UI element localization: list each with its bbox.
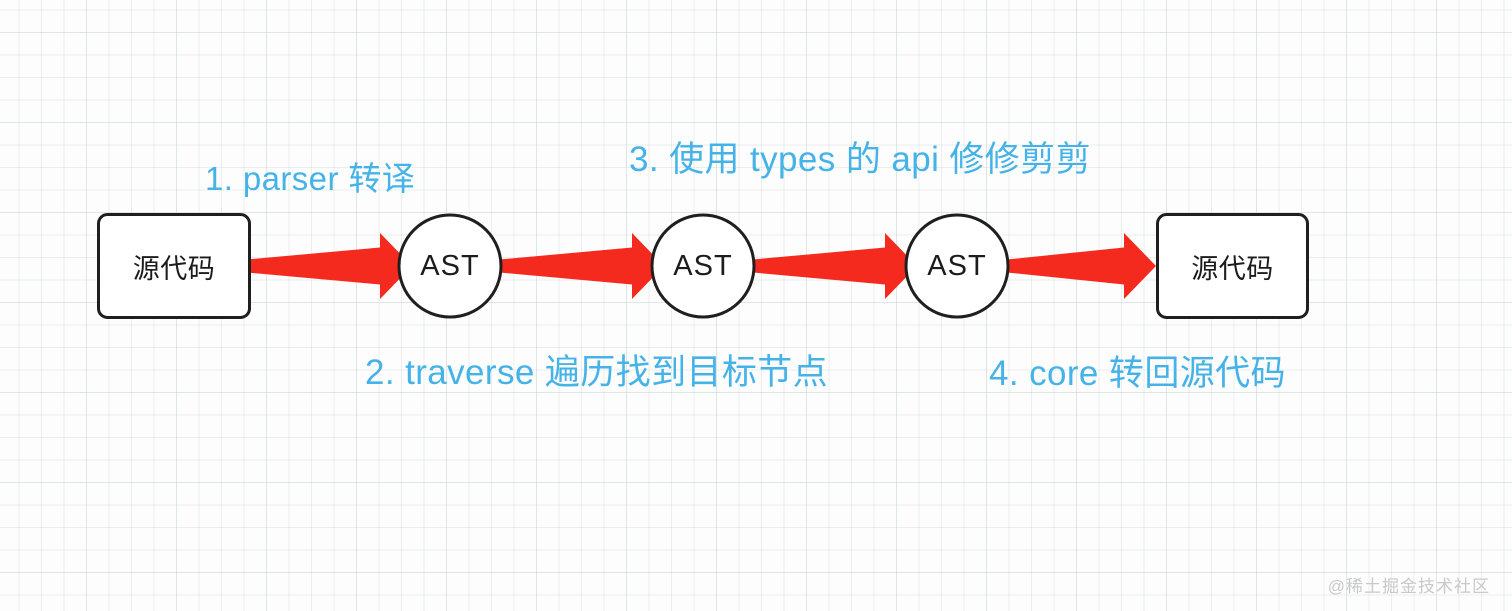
step-label-1-parser: 1. parser 转译 bbox=[205, 152, 415, 200]
arrow-src-in-to-ast-1 bbox=[247, 233, 412, 299]
arrow-ast-1-to-ast-2 bbox=[500, 233, 664, 299]
node-src-in[interactable] bbox=[99, 215, 250, 318]
diagram-canvas: 源代码 AST AST AST 源代码 1. parser 转译 2. trav… bbox=[0, 0, 1512, 611]
step-label-2-traverse: 2. traverse 遍历找到目标节点 bbox=[365, 344, 828, 395]
step-label-3-types: 3. 使用 types 的 api 修修剪剪 bbox=[629, 131, 1091, 182]
node-ast-3[interactable] bbox=[906, 215, 1008, 317]
arrow-ast-2-to-ast-3 bbox=[753, 233, 917, 299]
node-src-out[interactable] bbox=[1158, 215, 1308, 318]
flow-diagram-svg bbox=[0, 0, 1512, 611]
step-label-4-core: 4. core 转回源代码 bbox=[989, 345, 1286, 396]
arrow-ast-3-to-src-out bbox=[1007, 233, 1156, 299]
node-ast-2[interactable] bbox=[652, 215, 754, 317]
node-ast-1[interactable] bbox=[399, 215, 501, 317]
watermark-text: @稀土掘金技术社区 bbox=[1328, 572, 1490, 597]
